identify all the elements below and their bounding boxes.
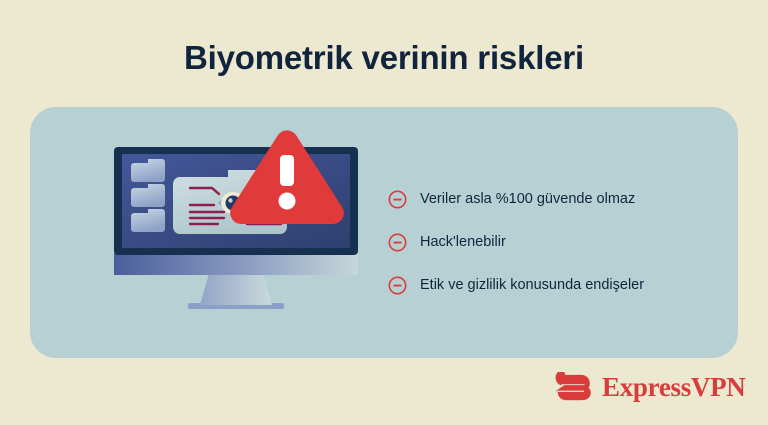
list-item-label: Hack'lenebilir — [420, 234, 506, 251]
monitor-chin — [114, 253, 358, 275]
list-item: Hack'lenebilir — [388, 233, 718, 252]
expressvpn-wordmark: ExpressVPN — [602, 374, 746, 401]
expressvpn-logo: ExpressVPN — [553, 372, 746, 402]
minus-circle-icon — [388, 276, 407, 295]
minus-circle-icon — [388, 190, 407, 209]
list-item: Etik ve gizlilik konusunda endişeler — [388, 276, 718, 295]
risk-list: Veriler asla %100 güvende olmaz Hack'len… — [388, 190, 718, 295]
minus-circle-icon — [388, 233, 407, 252]
monitor-with-warning-illustration — [100, 125, 370, 325]
warning-exclamation-dot — [279, 193, 296, 210]
warning-exclamation-bar — [280, 155, 294, 186]
folder-icon-group — [131, 159, 165, 232]
list-item: Veriler asla %100 güvende olmaz — [388, 190, 718, 209]
page-title: Biyometrik verinin riskleri — [0, 40, 768, 76]
monitor-neck — [200, 270, 272, 305]
list-item-label: Etik ve gizlilik konusunda endişeler — [420, 277, 644, 294]
expressvpn-e-mark — [553, 372, 591, 402]
list-item-label: Veriler asla %100 güvende olmaz — [420, 191, 635, 208]
